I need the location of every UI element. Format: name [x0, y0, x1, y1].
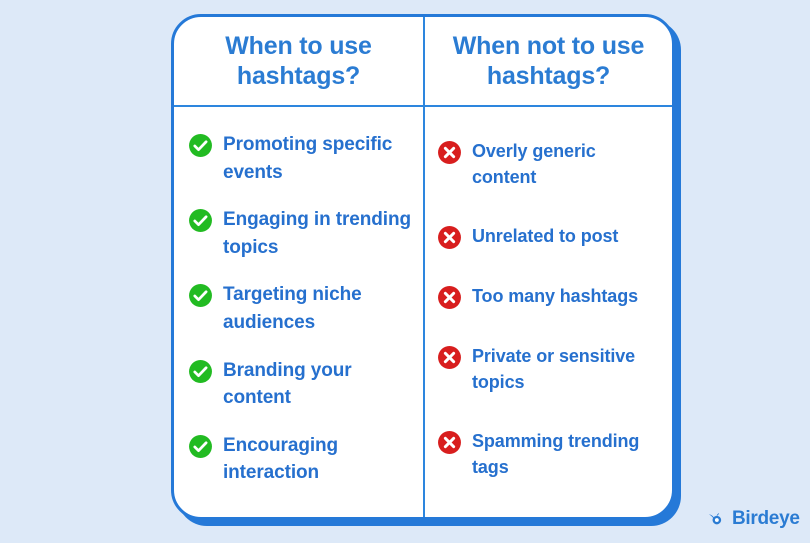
check-circle-icon: [188, 359, 213, 384]
column-title-left: When to use hashtags?: [184, 31, 413, 92]
list-item-label: Engaging in trending topics: [223, 206, 415, 261]
brand-logo: Birdeye: [706, 508, 800, 530]
list-item: Unrelated to post: [437, 223, 664, 250]
check-circle-icon: [188, 208, 213, 233]
list-item-label: Targeting niche audiences: [223, 281, 415, 336]
list-item: Promoting specific events: [188, 131, 415, 186]
list-item: Spamming trending tags: [437, 428, 664, 480]
list-item-label: Too many hashtags: [472, 283, 638, 309]
birdeye-logo-icon: [706, 509, 727, 530]
cross-circle-icon: [437, 430, 462, 455]
column-title-right: When not to use hashtags?: [435, 31, 662, 92]
comparison-card: When to use hashtags? When not to use ha…: [171, 14, 675, 520]
cross-circle-icon: [437, 285, 462, 310]
list-item-label: Overly generic content: [472, 138, 664, 190]
list-item: Too many hashtags: [437, 283, 664, 310]
brand-name: Birdeye: [732, 508, 800, 530]
card-body-row: Promoting specific events Engaging in tr…: [174, 107, 672, 517]
list-item: Encouraging interaction: [188, 432, 415, 487]
check-circle-icon: [188, 283, 213, 308]
list-item: Private or sensitive topics: [437, 343, 664, 395]
list-when-not-to-use: Overly generic content Unrelated to post…: [423, 107, 672, 517]
list-item-label: Encouraging interaction: [223, 432, 415, 487]
list-item-label: Branding your content: [223, 357, 415, 412]
list-item: Engaging in trending topics: [188, 206, 415, 261]
column-header-when-to-use: When to use hashtags?: [174, 17, 423, 105]
card-header-row: When to use hashtags? When not to use ha…: [174, 17, 672, 107]
check-circle-icon: [188, 133, 213, 158]
cross-circle-icon: [437, 140, 462, 165]
list-item: Overly generic content: [437, 138, 664, 190]
list-item-label: Private or sensitive topics: [472, 343, 664, 395]
cross-circle-icon: [437, 345, 462, 370]
list-item-label: Unrelated to post: [472, 223, 618, 249]
list-item-label: Promoting specific events: [223, 131, 415, 186]
list-item: Targeting niche audiences: [188, 281, 415, 336]
list-when-to-use: Promoting specific events Engaging in tr…: [174, 107, 423, 517]
check-circle-icon: [188, 434, 213, 459]
cross-circle-icon: [437, 225, 462, 250]
list-item-label: Spamming trending tags: [472, 428, 664, 480]
list-item: Branding your content: [188, 357, 415, 412]
column-header-when-not-to-use: When not to use hashtags?: [423, 17, 672, 105]
